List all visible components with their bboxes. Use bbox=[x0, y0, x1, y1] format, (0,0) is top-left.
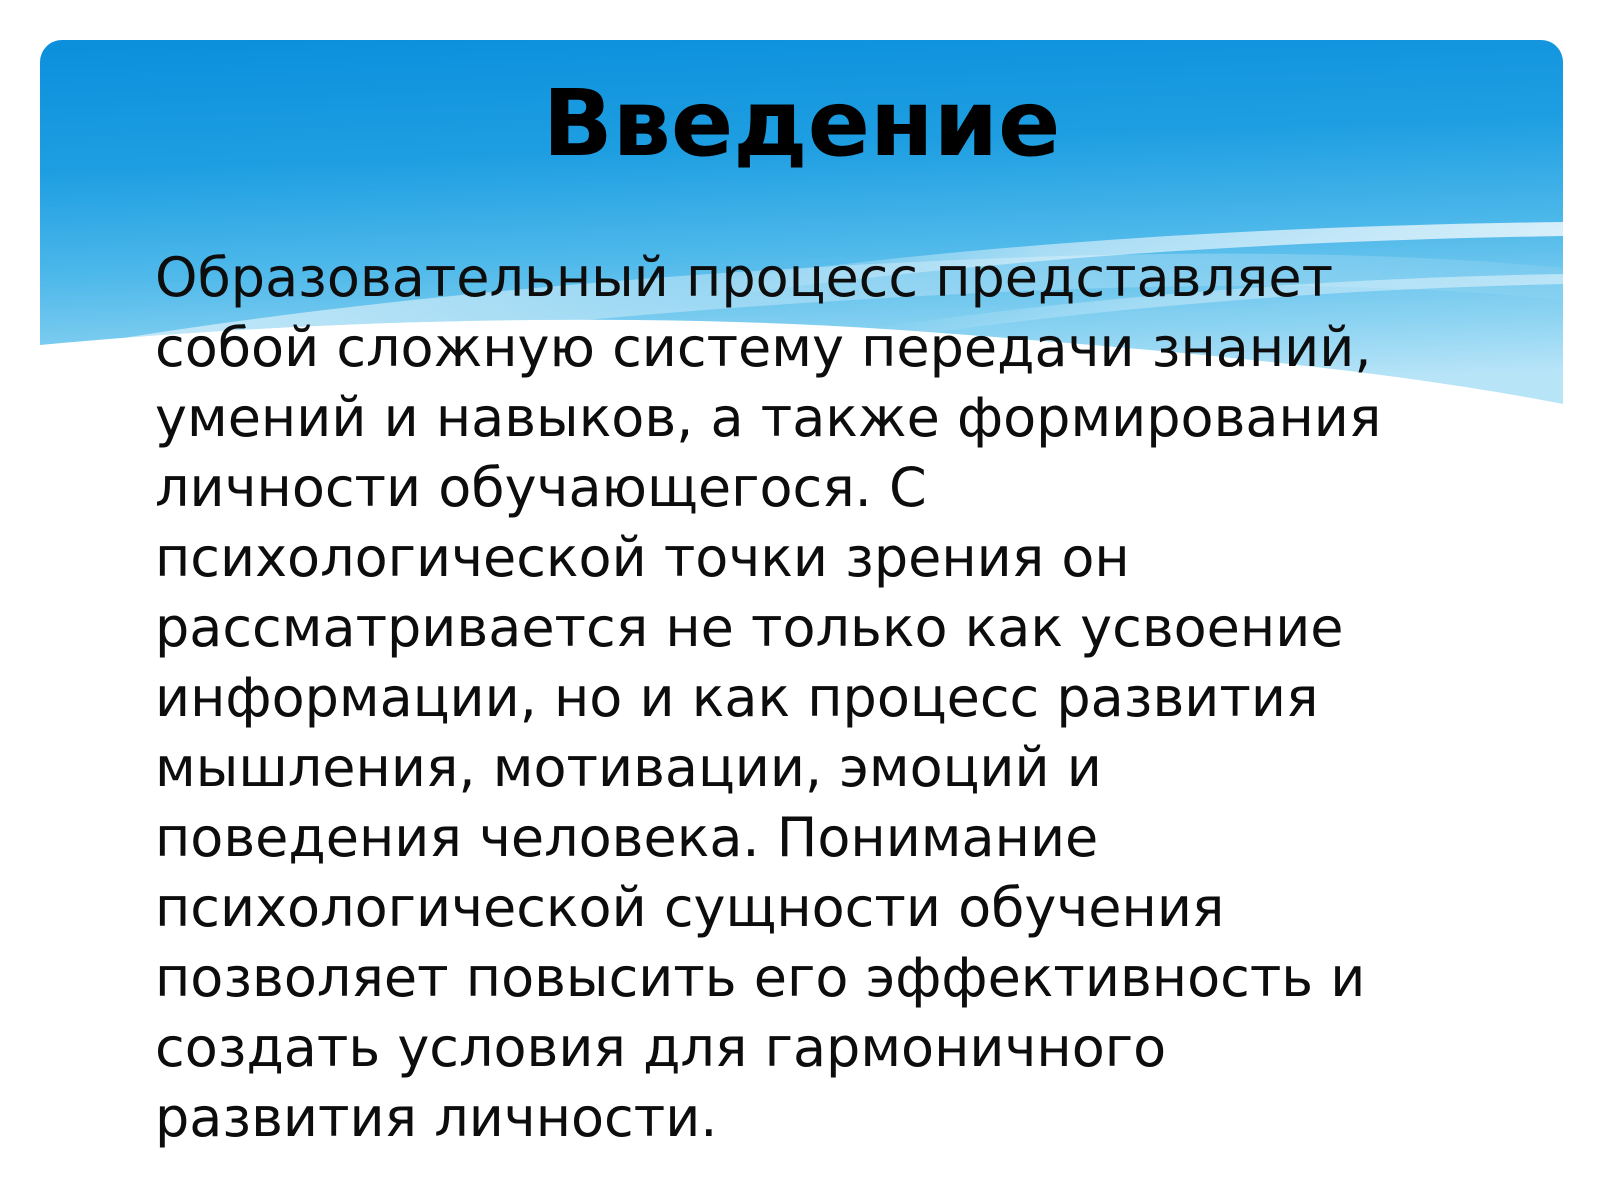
body-line: мышления, мотивации, эмоций и bbox=[155, 733, 1370, 803]
body-line: личности обучающегося. С bbox=[155, 453, 1370, 523]
body-line: умений и навыков, а также формирования bbox=[155, 383, 1370, 453]
body-line: создать условия для гармоничного bbox=[155, 1013, 1370, 1083]
presentation-slide: Введение Образовательный процесс предста… bbox=[0, 0, 1600, 1200]
slide-title: Введение bbox=[40, 78, 1563, 170]
body-line: поведения человека. Понимание bbox=[155, 803, 1370, 873]
body-line: психологической точки зрения он bbox=[155, 523, 1370, 593]
slide-body-text: Образовательный процесс представляет соб… bbox=[155, 243, 1370, 1153]
body-line: позволяет повысить его эффективность и bbox=[155, 943, 1370, 1013]
body-line: Образовательный процесс представляет bbox=[155, 243, 1370, 313]
body-line: развития личности. bbox=[155, 1083, 1370, 1153]
body-line: собой сложную систему передачи знаний, bbox=[155, 313, 1370, 383]
body-line: психологической сущности обучения bbox=[155, 873, 1370, 943]
body-line: рассматривается не только как усвоение bbox=[155, 593, 1370, 663]
body-line: информации, но и как процесс развития bbox=[155, 663, 1370, 733]
